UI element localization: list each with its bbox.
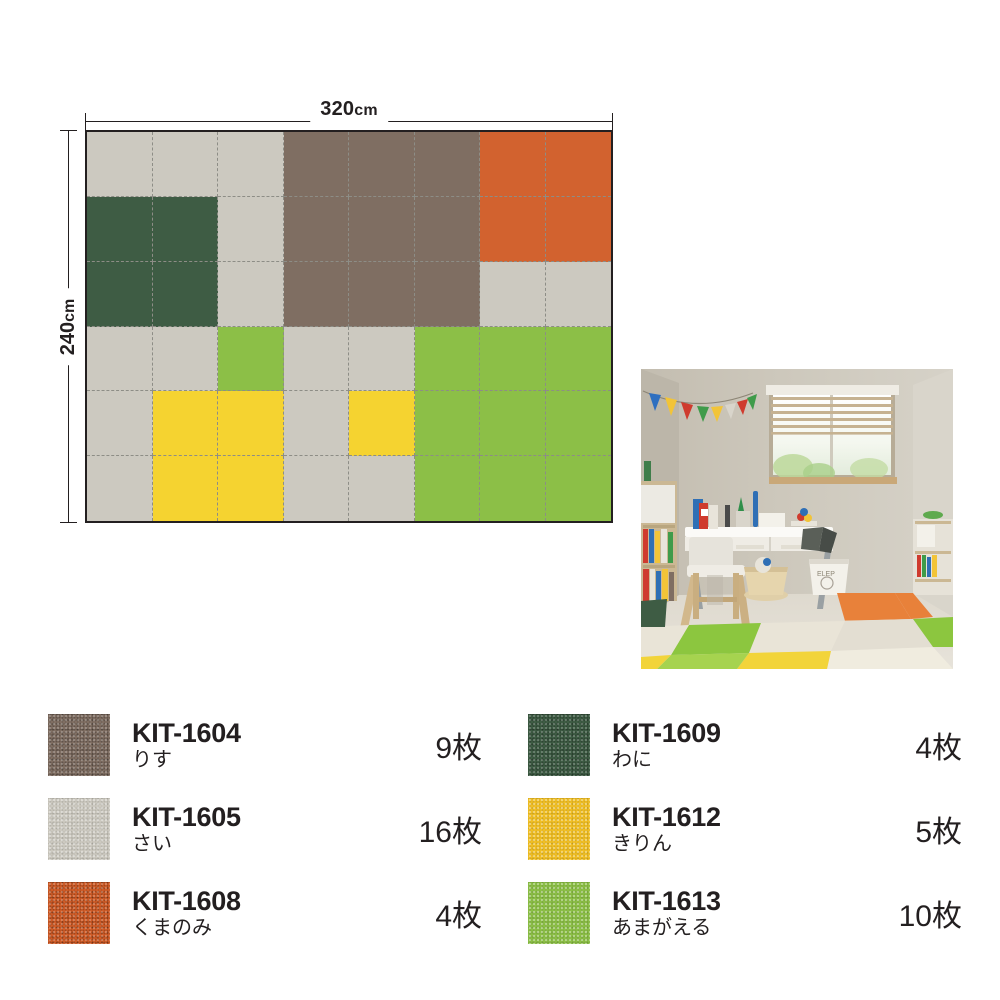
legend-text-block: KIT-1608くまのみ	[110, 886, 372, 940]
legend-code: KIT-1612	[612, 802, 852, 833]
legend-text-block: KIT-1612きりん	[590, 802, 852, 856]
legend-text-block: KIT-1604りす	[110, 718, 372, 772]
tile-cell-r1-c3[interactable]	[218, 132, 284, 197]
tile-cell-r1-c7[interactable]	[480, 132, 546, 197]
tile-cell-r1-c1[interactable]	[87, 132, 153, 197]
tile-cell-r5-c2[interactable]	[153, 391, 219, 456]
tile-cell-r5-c7[interactable]	[480, 391, 546, 456]
tile-cell-r2-c3[interactable]	[218, 197, 284, 262]
swatch-texture	[48, 798, 110, 860]
tile-cell-r2-c2[interactable]	[153, 197, 219, 262]
tile-cell-r4-c4[interactable]	[284, 327, 350, 392]
tile-cell-r2-c1[interactable]	[87, 197, 153, 262]
swatch-texture	[48, 882, 110, 944]
legend-count: 16枚	[372, 807, 488, 851]
tile-cell-r6-c3[interactable]	[218, 456, 284, 521]
legend-count: 4枚	[852, 723, 968, 767]
tile-cell-r3-c8[interactable]	[546, 262, 612, 327]
tile-cell-r4-c5[interactable]	[349, 327, 415, 392]
legend-name: さい	[132, 833, 372, 856]
tile-cell-r3-c6[interactable]	[415, 262, 481, 327]
swatch-texture	[528, 882, 590, 944]
tile-cell-r2-c5[interactable]	[349, 197, 415, 262]
tile-cell-r5-c3[interactable]	[218, 391, 284, 456]
tile-cell-r4-c2[interactable]	[153, 327, 219, 392]
tile-cell-r1-c4[interactable]	[284, 132, 350, 197]
legend-code: KIT-1609	[612, 718, 852, 749]
legend-count: 4枚	[372, 891, 488, 935]
dimension-height-cap-top	[60, 130, 77, 131]
tile-cell-r3-c2[interactable]	[153, 262, 219, 327]
tile-cell-r4-c6[interactable]	[415, 327, 481, 392]
tile-cell-r2-c8[interactable]	[546, 197, 612, 262]
tile-cell-r3-c1[interactable]	[87, 262, 153, 327]
tile-cell-r5-c1[interactable]	[87, 391, 153, 456]
legend-name: わに	[612, 749, 852, 772]
legend-item-kit-1612[interactable]: KIT-1612きりん5枚	[528, 787, 968, 871]
tile-cell-r1-c5[interactable]	[349, 132, 415, 197]
legend-name: あまがえる	[612, 917, 852, 940]
dimension-height-cap-bottom	[60, 522, 77, 523]
legend-swatch-kit-1609	[528, 714, 590, 776]
legend-swatch-kit-1608	[48, 882, 110, 944]
legend-item-kit-1604[interactable]: KIT-1604りす9枚	[48, 703, 488, 787]
tile-layout-grid	[85, 130, 613, 523]
tile-cell-r2-c4[interactable]	[284, 197, 350, 262]
legend-swatch-kit-1612	[528, 798, 590, 860]
dimension-width-value: 320	[320, 98, 354, 120]
tile-cell-r1-c2[interactable]	[153, 132, 219, 197]
tile-cell-r4-c7[interactable]	[480, 327, 546, 392]
tile-layout-page: 320cm 240cm	[0, 0, 1000, 1000]
tile-cell-r5-c4[interactable]	[284, 391, 350, 456]
tile-cell-r1-c8[interactable]	[546, 132, 612, 197]
legend-code: KIT-1604	[132, 718, 372, 749]
tile-cell-r3-c4[interactable]	[284, 262, 350, 327]
dimension-height: 240cm	[52, 130, 86, 523]
tile-cell-r3-c5[interactable]	[349, 262, 415, 327]
tile-cell-r6-c8[interactable]	[546, 456, 612, 521]
tile-cell-r4-c3[interactable]	[218, 327, 284, 392]
dimension-width-label: 320cm	[310, 96, 388, 124]
tile-cell-r6-c7[interactable]	[480, 456, 546, 521]
legend-code: KIT-1605	[132, 802, 372, 833]
dimension-height-unit: cm	[61, 298, 78, 321]
tile-cell-r4-c8[interactable]	[546, 327, 612, 392]
legend-name: りす	[132, 749, 372, 772]
legend-item-kit-1605[interactable]: KIT-1605さい16枚	[48, 787, 488, 871]
legend-count: 5枚	[852, 807, 968, 851]
tile-cell-r6-c5[interactable]	[349, 456, 415, 521]
dimension-width-cap-right	[612, 113, 613, 130]
tile-cell-r2-c6[interactable]	[415, 197, 481, 262]
tile-cell-r1-c6[interactable]	[415, 132, 481, 197]
legend-text-block: KIT-1609わに	[590, 718, 852, 772]
room-photo-illustration: ELEP	[641, 369, 953, 669]
legend-swatch-kit-1604	[48, 714, 110, 776]
legend-count: 10枚	[852, 891, 968, 935]
legend-text-block: KIT-1613あまがえる	[590, 886, 852, 940]
tile-cell-r6-c4[interactable]	[284, 456, 350, 521]
tile-cell-r6-c1[interactable]	[87, 456, 153, 521]
tile-cell-r5-c6[interactable]	[415, 391, 481, 456]
tile-cell-r3-c3[interactable]	[218, 262, 284, 327]
legend-code: KIT-1608	[132, 886, 372, 917]
dimension-width-unit: cm	[354, 102, 378, 119]
room-photo: ELEP	[641, 369, 953, 669]
legend-swatch-kit-1613	[528, 882, 590, 944]
tile-legend: KIT-1604りす9枚KIT-1609わに4枚KIT-1605さい16枚KIT…	[48, 703, 968, 955]
dimension-width-cap-left	[85, 113, 86, 130]
tile-cell-r3-c7[interactable]	[480, 262, 546, 327]
legend-item-kit-1608[interactable]: KIT-1608くまのみ4枚	[48, 871, 488, 955]
legend-text-block: KIT-1605さい	[110, 802, 372, 856]
dimension-width: 320cm	[85, 96, 613, 130]
legend-name: くまのみ	[132, 917, 372, 940]
dimension-height-label: 240cm	[53, 288, 85, 365]
tile-cell-r4-c1[interactable]	[87, 327, 153, 392]
tile-grid-cells	[87, 132, 611, 521]
swatch-texture	[528, 714, 590, 776]
legend-swatch-kit-1605	[48, 798, 110, 860]
swatch-texture	[528, 798, 590, 860]
legend-name: きりん	[612, 833, 852, 856]
legend-item-kit-1613[interactable]: KIT-1613あまがえる10枚	[528, 871, 968, 955]
tile-cell-r6-c2[interactable]	[153, 456, 219, 521]
tile-cell-r6-c6[interactable]	[415, 456, 481, 521]
legend-code: KIT-1613	[612, 886, 852, 917]
dimension-height-value: 240	[57, 321, 79, 354]
tile-cell-r5-c5[interactable]	[349, 391, 415, 456]
legend-item-kit-1609[interactable]: KIT-1609わに4枚	[528, 703, 968, 787]
tile-cell-r2-c7[interactable]	[480, 197, 546, 262]
tile-cell-r5-c8[interactable]	[546, 391, 612, 456]
legend-count: 9枚	[372, 723, 488, 767]
swatch-texture	[48, 714, 110, 776]
